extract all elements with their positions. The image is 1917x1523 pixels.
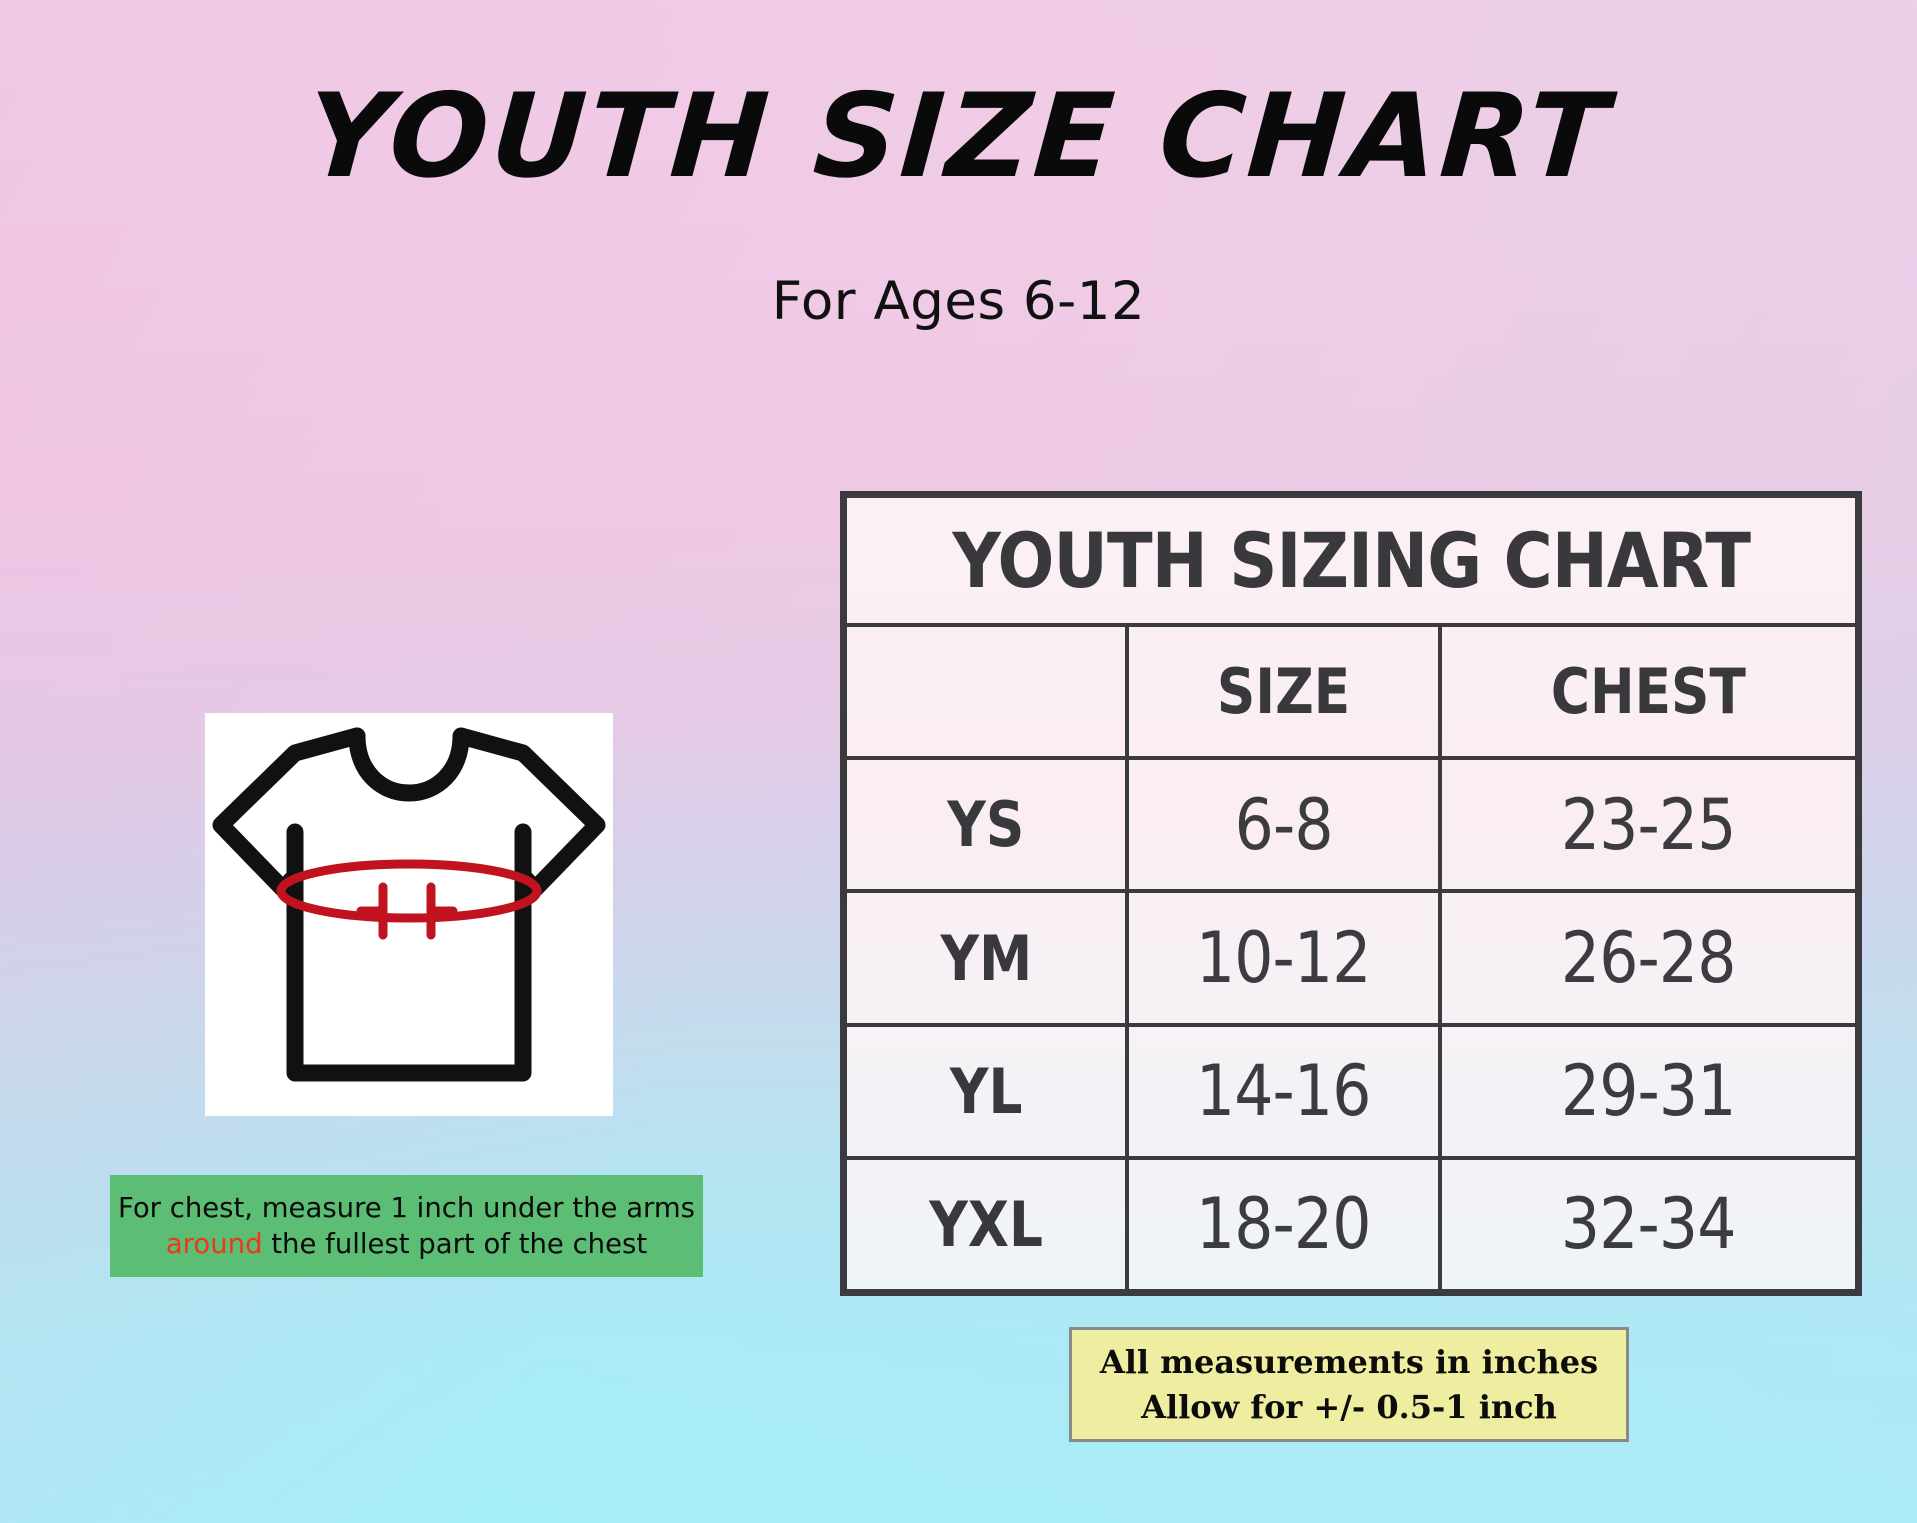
row-label-yl: YL xyxy=(950,1055,1023,1128)
table-cell-chest: 23-25 xyxy=(1442,760,1855,889)
table-header-cell-chest: CHEST xyxy=(1442,627,1855,756)
table-row: YL 14-16 29-31 xyxy=(847,1027,1855,1160)
row-size-ym: 10-12 xyxy=(1196,917,1371,999)
size-chart-page: YOUTH SIZE CHART For Ages 6-12 For chest… xyxy=(0,0,1917,1523)
disclaimer-line1: All measurements in inches xyxy=(1100,1340,1598,1384)
row-chest-yxl: 32-34 xyxy=(1561,1183,1736,1265)
row-size-yxl: 18-20 xyxy=(1196,1183,1371,1265)
table-cell-label: YS xyxy=(847,760,1129,889)
disclaimer-line2: Allow for +/- 0.5-1 inch xyxy=(1141,1385,1557,1429)
table-row: YXL 18-20 32-34 xyxy=(847,1160,1855,1289)
row-chest-yl: 29-31 xyxy=(1561,1050,1736,1132)
chest-measure-note-line2-rest: the fullest part of the chest xyxy=(263,1228,648,1260)
chest-measure-note-line2: around the fullest part of the chest xyxy=(166,1226,647,1262)
table-title: YOUTH SIZING CHART xyxy=(952,516,1750,605)
table-header-size-label: SIZE xyxy=(1217,655,1350,728)
table-row: YS 6-8 23-25 xyxy=(847,760,1855,893)
tshirt-illustration-panel xyxy=(205,713,613,1116)
table-cell-size: 14-16 xyxy=(1129,1027,1441,1156)
tshirt-chest-measure-icon xyxy=(205,713,613,1116)
table-cell-size: 6-8 xyxy=(1129,760,1441,889)
row-label-yxl: YXL xyxy=(929,1188,1043,1261)
chest-measure-note: For chest, measure 1 inch under the arms… xyxy=(110,1175,703,1277)
chest-measure-ellipse xyxy=(281,864,537,918)
page-title: YOUTH SIZE CHART xyxy=(0,76,1917,198)
measurement-disclaimer-note: All measurements in inches Allow for +/-… xyxy=(1069,1327,1629,1442)
table-row: YM 10-12 26-28 xyxy=(847,893,1855,1026)
table-header-cell-blank xyxy=(847,627,1129,756)
table-cell-label: YM xyxy=(847,893,1129,1022)
youth-sizing-table: YOUTH SIZING CHART SIZE CHEST YS 6-8 23-… xyxy=(840,491,1862,1296)
page-subtitle: For Ages 6-12 xyxy=(0,271,1917,332)
table-cell-size: 18-20 xyxy=(1129,1160,1441,1289)
chest-measure-ticks xyxy=(361,887,453,935)
table-cell-chest: 26-28 xyxy=(1442,893,1855,1022)
row-label-ym: YM xyxy=(940,922,1032,995)
table-header-cell-size: SIZE xyxy=(1129,627,1441,756)
highlight-word-around: around xyxy=(166,1228,263,1260)
table-title-row: YOUTH SIZING CHART xyxy=(847,498,1855,627)
row-label-ys: YS xyxy=(948,788,1025,861)
table-header-row: SIZE CHEST xyxy=(847,627,1855,760)
row-chest-ys: 23-25 xyxy=(1561,784,1736,866)
table-cell-label: YXL xyxy=(847,1160,1129,1289)
row-size-yl: 14-16 xyxy=(1196,1050,1371,1132)
table-cell-label: YL xyxy=(847,1027,1129,1156)
row-chest-ym: 26-28 xyxy=(1561,917,1736,999)
chest-measure-note-line1: For chest, measure 1 inch under the arms xyxy=(118,1190,695,1226)
table-cell-chest: 29-31 xyxy=(1442,1027,1855,1156)
table-cell-size: 10-12 xyxy=(1129,893,1441,1022)
table-cell-chest: 32-34 xyxy=(1442,1160,1855,1289)
table-header-chest-label: CHEST xyxy=(1551,655,1746,728)
row-size-ys: 6-8 xyxy=(1234,784,1332,866)
